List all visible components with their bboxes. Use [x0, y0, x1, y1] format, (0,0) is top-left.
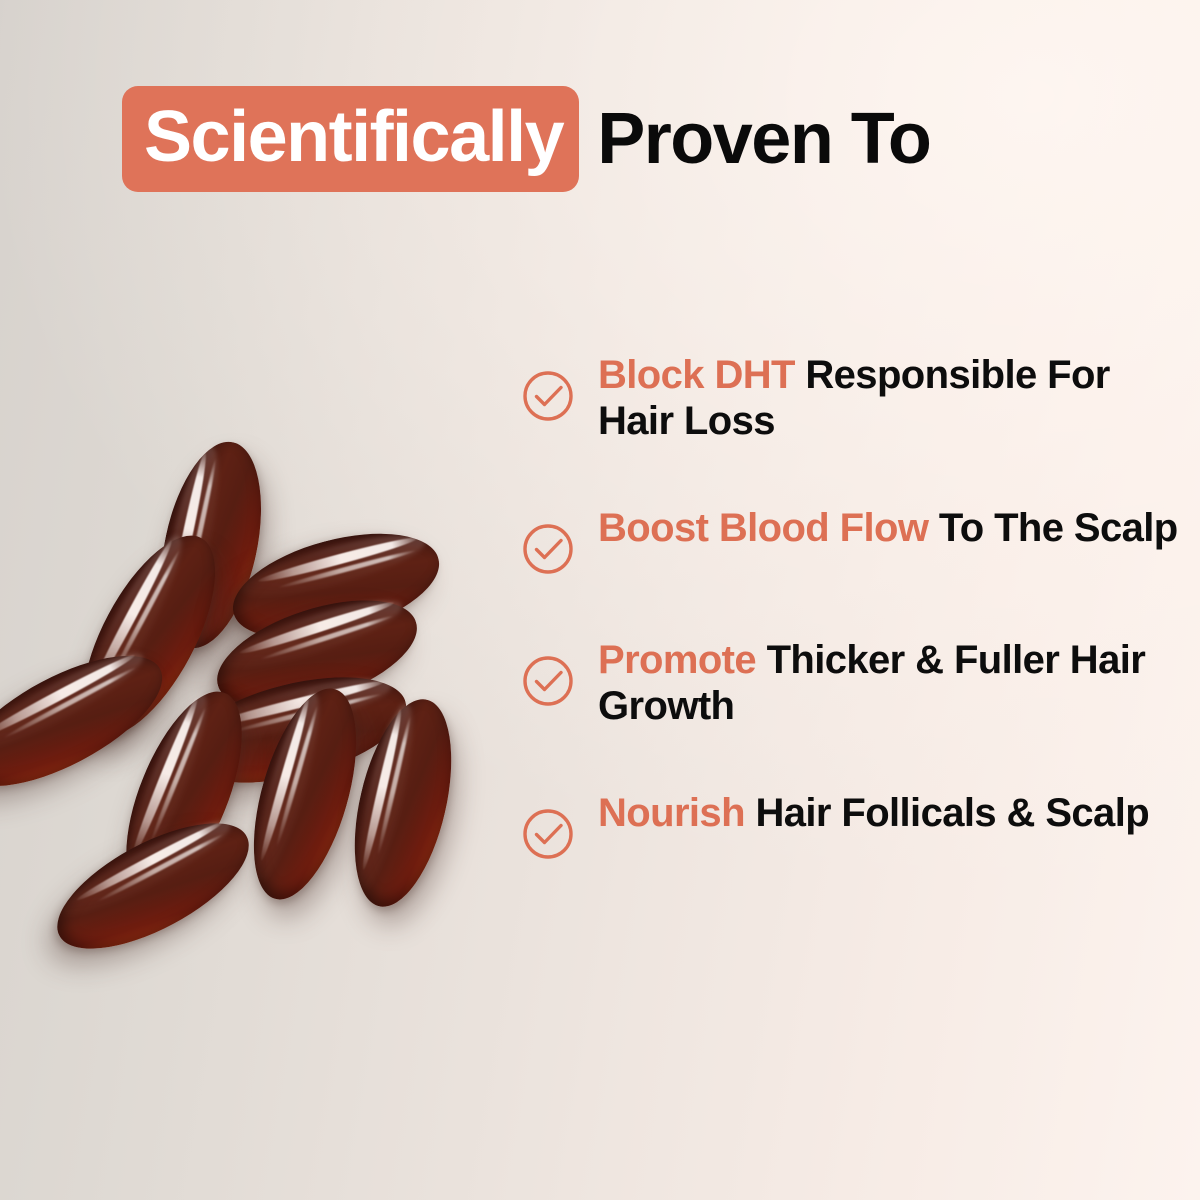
list-item: Promote Thicker & Fuller Hair Growth [520, 637, 1180, 730]
product-capsules-image [0, 395, 530, 955]
benefit-text: Promote Thicker & Fuller Hair Growth [598, 637, 1178, 730]
capsule-sheen [0, 640, 151, 765]
benefit-highlight: Block DHT [598, 353, 805, 397]
benefit-highlight: Boost Blood Flow [598, 506, 939, 550]
check-circle-icon [520, 521, 576, 577]
headline-rest-text: Proven To [579, 106, 930, 172]
check-circle-icon [520, 806, 576, 862]
benefits-list: Block DHT Responsible For Hair Loss Boos… [520, 352, 1180, 862]
page-title: Scientifically Proven To [122, 86, 930, 192]
list-item: Boost Blood Flow To The Scalp [520, 505, 1180, 577]
list-item: Block DHT Responsible For Hair Loss [520, 352, 1180, 445]
benefit-text: Nourish Hair Follicals & Scalp [598, 790, 1149, 836]
benefit-highlight: Nourish [598, 791, 755, 835]
check-circle-icon [520, 368, 576, 424]
benefit-text: Boost Blood Flow To The Scalp [598, 505, 1178, 551]
check-circle-icon [520, 653, 576, 709]
benefit-rest: To The Scalp [939, 506, 1178, 550]
benefit-rest: Hair Follicals & Scalp [755, 791, 1149, 835]
headline-highlight-badge: Scientifically [122, 86, 579, 192]
poster-canvas: Scientifically Proven To Block DHT Respo… [0, 0, 1200, 1200]
benefit-highlight: Promote [598, 638, 767, 682]
capsule-sheen [236, 523, 430, 608]
list-item: Nourish Hair Follicals & Scalp [520, 790, 1180, 862]
benefit-text: Block DHT Responsible For Hair Loss [598, 352, 1178, 445]
